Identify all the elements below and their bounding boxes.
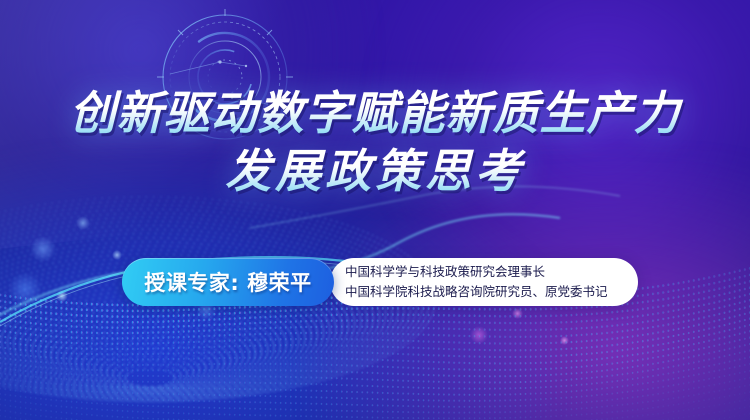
credential-line-2: 中国科学院科技战略咨询院研究员、原党委书记 [345, 282, 645, 302]
speaker-pill-label: 授课专家: 穆荣平 [122, 258, 334, 306]
speaker-credentials: 中国科学学与科技政策研究会理事长 中国科学院科技战略咨询院研究员、原党委书记 [345, 262, 645, 301]
course-banner: 创新驱动数字赋能新质生产力 发展政策思考 授课专家: 穆荣平 中国科学学与科技政… [0, 0, 750, 420]
title-line-1: 创新驱动数字赋能新质生产力 [0, 84, 750, 142]
title-line-2: 发展政策思考 [0, 142, 750, 200]
credential-line-1: 中国科学学与科技政策研究会理事长 [345, 262, 645, 282]
banner-title: 创新驱动数字赋能新质生产力 发展政策思考 [0, 84, 750, 200]
